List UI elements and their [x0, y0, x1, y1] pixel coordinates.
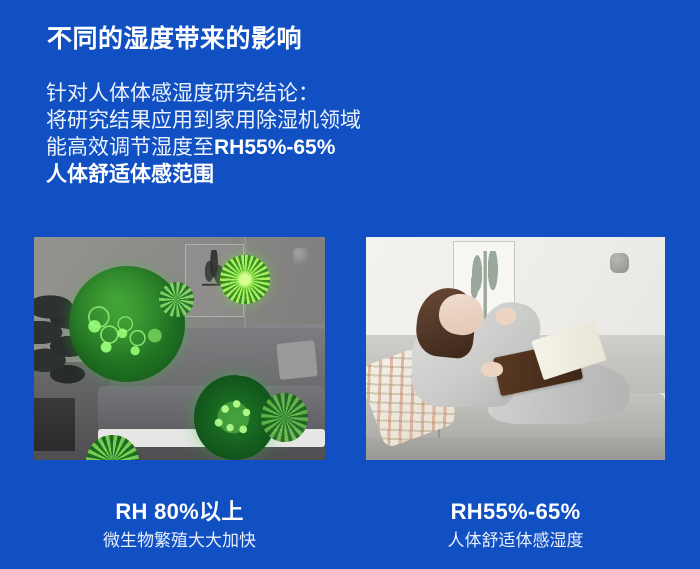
photo-high-humidity — [34, 237, 325, 460]
caption-comfort-humidity: RH55%-65% 人体舒适体感湿度 — [366, 498, 665, 553]
microbe-sphere-top — [220, 255, 269, 304]
intro-line-1: 针对人体体感湿度研究结论： — [46, 80, 361, 107]
caption-title: RH 80%以上 — [34, 498, 325, 526]
intro-line-2: 将研究结果应用到家用除湿机领域 — [46, 107, 361, 134]
promo-slide: 不同的湿度带来的影响 针对人体体感湿度研究结论： 将研究结果应用到家用除湿机领域… — [0, 0, 700, 569]
microbe-sphere-sofa-right — [261, 393, 308, 442]
woman-hand-lower — [481, 362, 503, 377]
intro-line-4: 人体舒适体感范围 — [46, 161, 361, 188]
sofa-base — [366, 438, 665, 460]
page-title: 不同的湿度带来的影响 — [47, 19, 302, 55]
intro-humidity-range: RH55%-65% — [214, 136, 335, 159]
bright-room-scene — [366, 237, 665, 460]
intro-line-3: 能高效调节湿度至RH55%-65% — [46, 134, 361, 161]
intro-line-3-regular: 能高效调节湿度至 — [46, 136, 214, 159]
wall-device-icon — [293, 248, 309, 265]
caption-title: RH55%-65% — [366, 498, 665, 526]
photo-comfort-humidity — [366, 237, 665, 460]
caption-subtitle: 微生物繁殖大大加快 — [34, 529, 325, 553]
dim-room-scene — [34, 237, 325, 460]
sofa-cushion — [277, 340, 318, 379]
caption-high-humidity: RH 80%以上 微生物繁殖大大加快 — [34, 498, 325, 553]
intro-paragraph: 针对人体体感湿度研究结论： 将研究结果应用到家用除湿机领域 能高效调节湿度至RH… — [46, 80, 361, 188]
wall-device-icon — [610, 253, 629, 273]
caption-subtitle: 人体舒适体感湿度 — [366, 529, 665, 553]
microbe-sphere-edge — [159, 282, 194, 318]
woman-figure — [408, 299, 629, 437]
